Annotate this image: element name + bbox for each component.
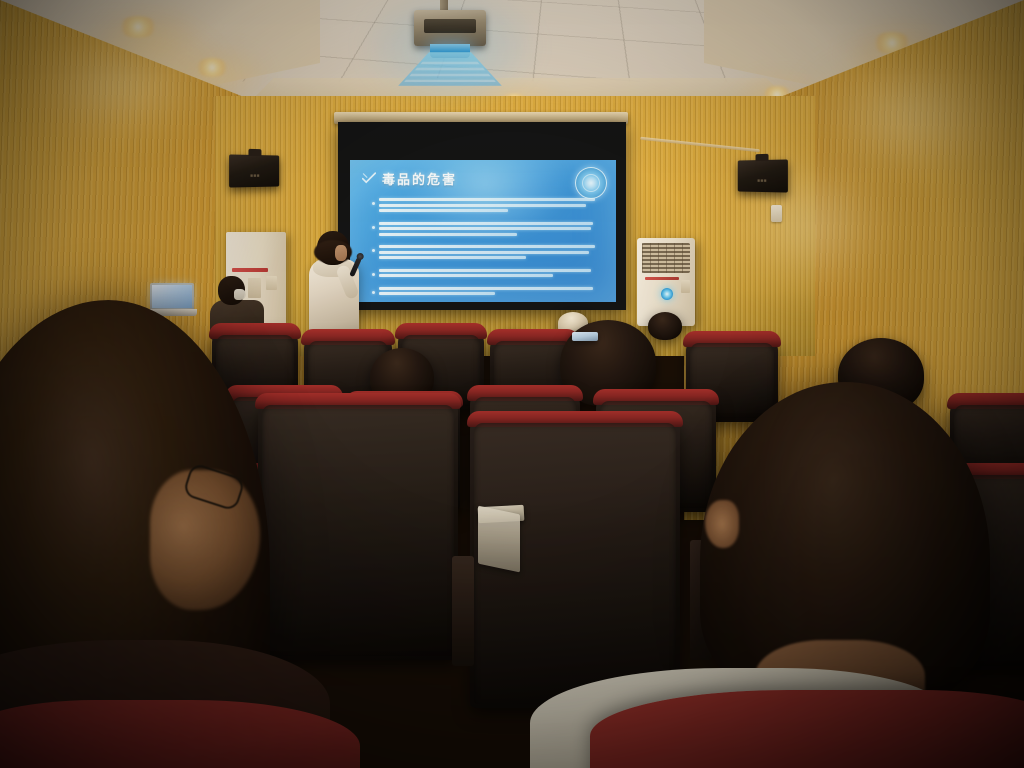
check-pen-icon <box>362 172 376 184</box>
seat-cushion <box>262 405 454 656</box>
foreground-seat-red-right <box>590 690 1024 768</box>
laptop-device <box>150 283 196 316</box>
bullet-dot-icon <box>372 202 375 205</box>
bullet-dot-icon <box>372 226 375 229</box>
ceiling-downlight-2 <box>195 58 229 77</box>
ceiling-projector <box>414 10 486 46</box>
ac-control-panel <box>681 280 690 293</box>
slide-title: 毒品的危害 <box>382 169 457 188</box>
ac-brand-stripe <box>645 277 679 280</box>
bullet-dot-icon <box>372 291 375 294</box>
seat-armrest <box>452 556 474 666</box>
foreground-attendee-right-ear <box>705 500 739 548</box>
bullet-line-block: 毒品使人丧失劳动能力，丧失正常生活与工作能力，家庭收入锐减，生活陷入困境。 <box>379 222 602 239</box>
bullet-line-block: 毒品诱发违法犯罪，为获取毒资铤而走险，偷盗抢劫贩毒，严重危害社会治安与公共安全。 <box>379 287 602 298</box>
presentation-slide: 毒品的危害 吸食毒品摧残身体健康，严重损害人体神经系统与免疫功能，长期使用导致身… <box>350 160 616 302</box>
wall-speaker-right: ■■■ <box>738 159 788 192</box>
laptop-screen <box>152 285 192 308</box>
speaker-brand-label-left: ■■■ <box>250 173 260 179</box>
slide-bullet-item: 毒品使人丧失劳动能力，丧失正常生活与工作能力，家庭收入锐减，生活陷入困境。 <box>372 222 602 239</box>
face-mask-icon <box>234 289 246 300</box>
seat-writing-tablet-panel <box>478 506 520 573</box>
ac-power-led-icon <box>661 288 673 300</box>
slide-bullet-list: 吸食毒品摧残身体健康，严重损害人体神经系统与免疫功能，长期使用导致身体机能衰竭。… <box>372 198 602 302</box>
slide-bullet-item: 吸毒耗费巨额钱财，为维持毒瘾不惜变卖家产、举债度日，最终导致倾家荡产。 <box>372 245 602 262</box>
laptop-lid <box>150 283 194 310</box>
slide-bullet-item: 吸食毒品摧残身体健康，严重损害人体神经系统与免疫功能，长期使用导致身体机能衰竭。 <box>372 198 602 215</box>
ceiling-downlight-1 <box>118 16 158 38</box>
light-switch-plate <box>771 205 782 222</box>
school-emblem-logo <box>575 167 607 199</box>
presenter-face <box>335 245 347 261</box>
speaker-brand-label-right: ■■■ <box>757 178 767 184</box>
bullet-dot-icon <box>372 249 375 252</box>
speaker-bracket-left <box>248 149 261 156</box>
bullet-line-block: 吸食毒品摧残身体健康，严重损害人体神经系统与免疫功能，长期使用导致身体机能衰竭。 <box>379 198 602 215</box>
seat-writing-tablet <box>572 332 598 341</box>
slide-bullet-item: 毒品诱发违法犯罪，为获取毒资铤而走险，偷盗抢劫贩毒，严重危害社会治安与公共安全。 <box>372 287 602 298</box>
slide-bullet-item: 毒品毁掉家庭幸福，家庭成员长期担惊受怕，亲情破裂，众多家庭因此支离破碎。 <box>372 269 602 280</box>
bullet-line-block: 吸毒耗费巨额钱财，为维持毒瘾不惜变卖家产、举债度日，最终导致倾家荡产。 <box>379 245 602 262</box>
wall-speaker-left: ■■■ <box>229 154 279 187</box>
lecture-hall-photo: ■■■ ■■■ 毒品的危害 吸食毒品摧残身体健康，严重损害人体 <box>0 0 1024 768</box>
audience-head <box>648 312 682 340</box>
seat-row-near-center <box>258 400 458 660</box>
bullet-line-block: 毒品毁掉家庭幸福，家庭成员长期担惊受怕，亲情破裂，众多家庭因此支离破碎。 <box>379 269 602 280</box>
speaker-bracket-right <box>756 154 769 161</box>
cabinet-red-stripe <box>232 268 268 272</box>
ac-vent-vanes <box>642 243 690 273</box>
bullet-dot-icon <box>372 273 375 276</box>
